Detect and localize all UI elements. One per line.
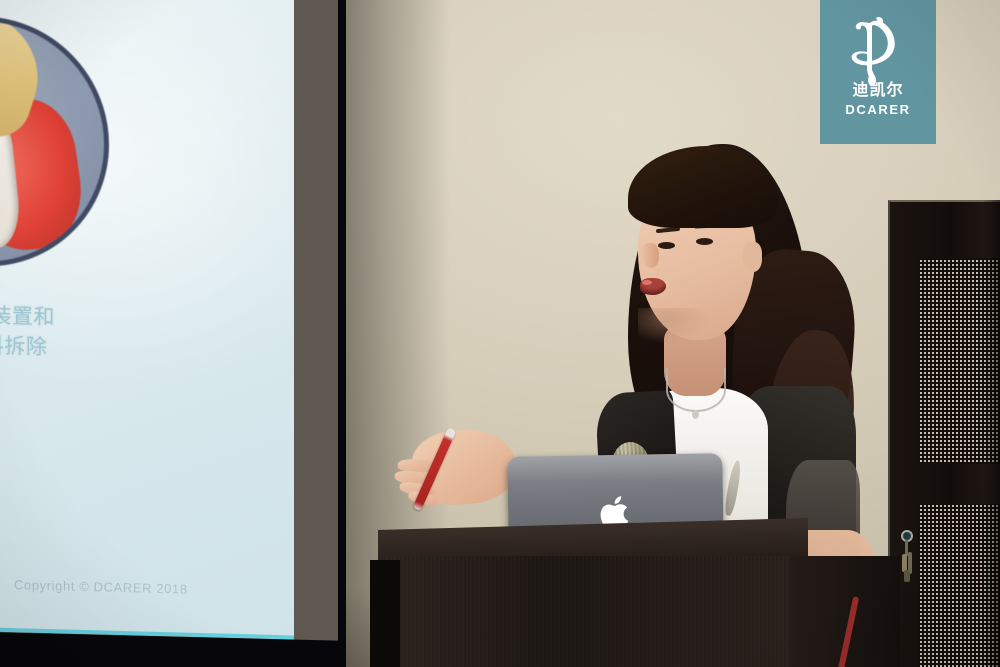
left-eye bbox=[658, 242, 675, 249]
podium-front-panel bbox=[386, 556, 804, 667]
chin-shadow bbox=[638, 308, 710, 344]
lip-highlight bbox=[642, 280, 652, 285]
ear bbox=[742, 242, 762, 272]
dcarer-logo-panel: 迪凯尔 DCARER bbox=[820, 0, 936, 144]
projection-screen: 坏固定装置和 MG材料拆除 Copyright © DCARER 2018 bbox=[0, 0, 294, 639]
nose bbox=[642, 243, 659, 268]
dcarer-logo-mark-icon bbox=[842, 6, 914, 86]
logo-english-text: DCARER bbox=[845, 102, 910, 117]
right-eye bbox=[696, 238, 713, 245]
necklace bbox=[666, 368, 726, 412]
necklace-pendant bbox=[692, 410, 699, 419]
podium-left-edge bbox=[370, 560, 400, 667]
logo-chinese-text: 迪凯尔 bbox=[852, 82, 903, 98]
slide-body-text: 坏固定装置和 MG材料拆除 bbox=[0, 300, 226, 367]
cabinet-right-shadow bbox=[983, 200, 1000, 667]
presentation-photo-scene: 坏固定装置和 MG材料拆除 Copyright © DCARER 2018 迪凯… bbox=[0, 0, 1000, 667]
